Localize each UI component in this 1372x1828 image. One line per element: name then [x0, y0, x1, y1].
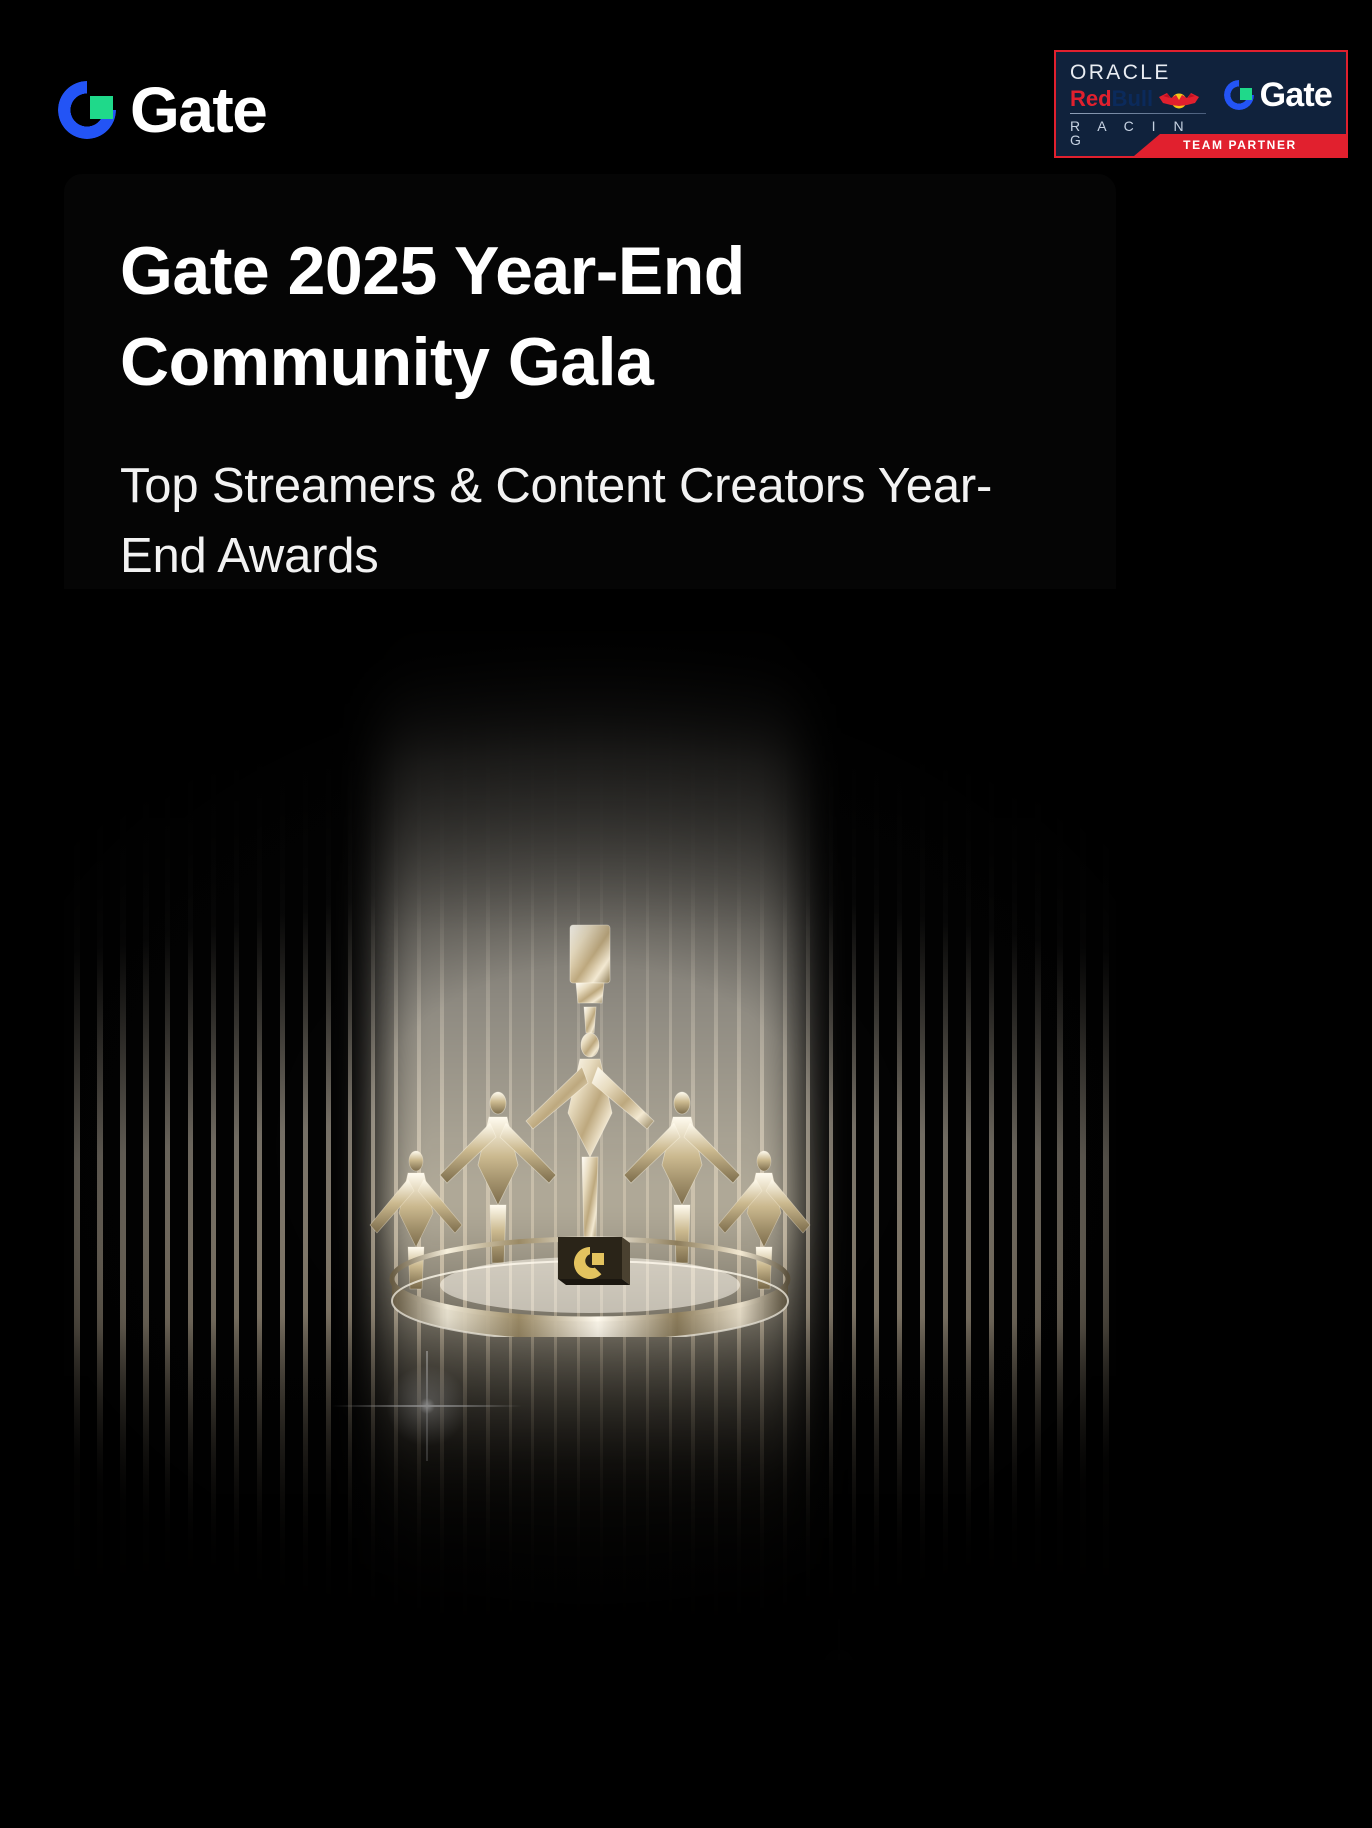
red-bull-icon [1157, 88, 1201, 110]
divider [1070, 113, 1206, 114]
team-partner-label: TEAM PARTNER [1183, 138, 1297, 152]
oracle-wordmark: ORACLE [1070, 62, 1206, 83]
crown-trophy-image [64, 589, 1116, 1660]
gate-logo-icon [58, 81, 116, 139]
badge-gate-name: Gate [1260, 78, 1332, 112]
page-header: Gate ORACLE RedBull R A C I N G [0, 0, 1372, 175]
oracle-red-bull-racing-partner-badge[interactable]: ORACLE RedBull R A C I N G [1054, 50, 1348, 158]
badge-gate-logo: Gate [1224, 78, 1332, 112]
card-header: Gate 2025 Year-End Community Gala Top St… [64, 174, 1116, 591]
page-title: Gate 2025 Year-End Community Gala [120, 226, 1060, 408]
event-card[interactable]: Gate 2025 Year-End Community Gala Top St… [64, 174, 1116, 1660]
gate-logo-icon [1224, 80, 1254, 110]
page-root: Gate ORACLE RedBull R A C I N G [0, 0, 1372, 1828]
image-vignette [64, 589, 1116, 1660]
gate-brand-logo[interactable]: Gate [58, 78, 266, 142]
brand-name: Gate [130, 78, 266, 142]
page-subtitle: Top Streamers & Content Creators Year-En… [120, 452, 1060, 591]
team-partner-band: TEAM PARTNER [1134, 134, 1346, 156]
red-bull-wordmark: RedBull [1070, 88, 1153, 110]
